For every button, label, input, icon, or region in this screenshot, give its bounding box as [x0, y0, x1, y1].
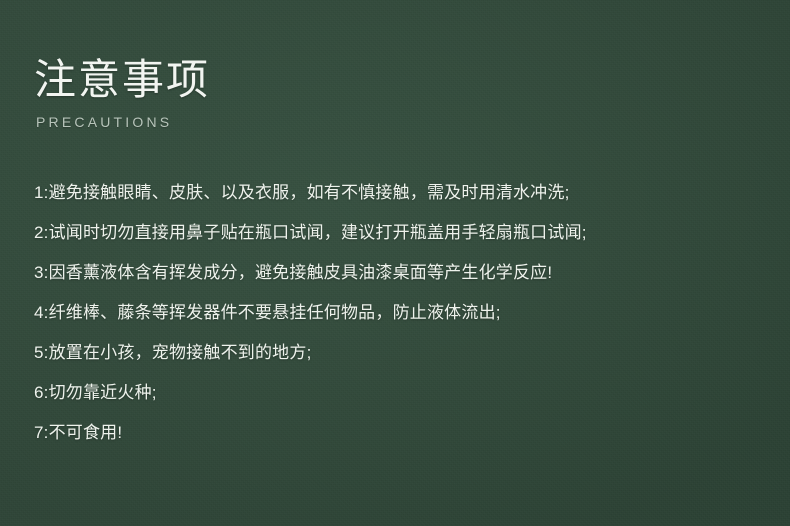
list-item: 4:纤维棒、藤条等挥发器件不要悬挂任何物品，防止液体流出; — [34, 293, 756, 333]
list-item: 3:因香薰液体含有挥发成分，避免接触皮具油漆桌面等产生化学反应! — [34, 253, 756, 293]
list-item: 1:避免接触眼睛、皮肤、以及衣服，如有不慎接触，需及时用清水冲洗; — [34, 173, 756, 213]
list-item: 7:不可食用! — [34, 413, 756, 453]
page-subtitle: PRECAUTIONS — [36, 113, 756, 131]
list-item: 2:试闻时切勿直接用鼻子贴在瓶口试闻，建议打开瓶盖用手轻扇瓶口试闻; — [34, 213, 756, 253]
heading-block: 注意事项 PRECAUTIONS — [34, 0, 756, 131]
list-item: 5:放置在小孩，宠物接触不到的地方; — [34, 333, 756, 373]
content-container: 注意事项 PRECAUTIONS 1:避免接触眼睛、皮肤、以及衣服，如有不慎接触… — [0, 0, 790, 453]
precautions-card: 注意事项 PRECAUTIONS 1:避免接触眼睛、皮肤、以及衣服，如有不慎接触… — [0, 0, 790, 526]
list-item: 6:切勿靠近火种; — [34, 373, 756, 413]
precautions-list: 1:避免接触眼睛、皮肤、以及衣服，如有不慎接触，需及时用清水冲洗; 2:试闻时切… — [34, 173, 756, 453]
page-title: 注意事项 — [34, 56, 756, 104]
